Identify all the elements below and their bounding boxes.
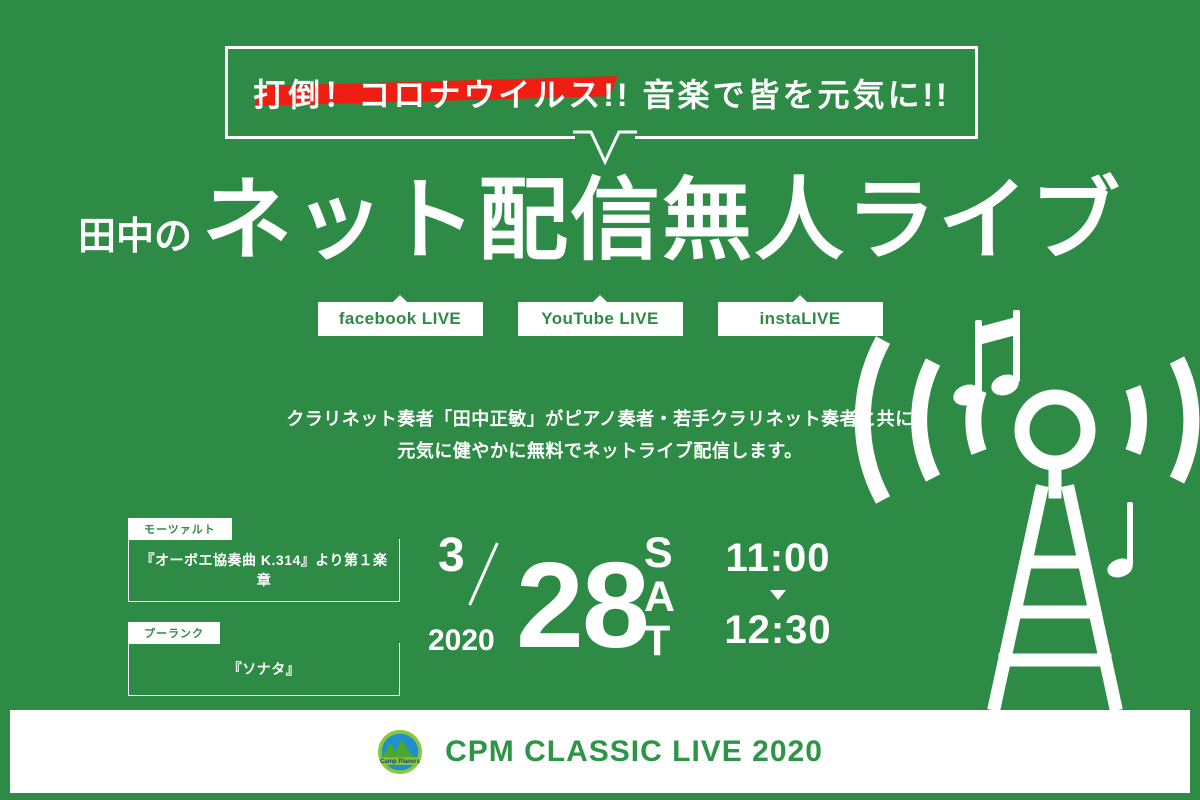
date-weekday-letter: S bbox=[644, 532, 675, 576]
logo-wordmark: Camp Planers bbox=[380, 759, 420, 765]
badge-facebook-live[interactable]: facebook LIVE bbox=[318, 302, 483, 336]
program-composer-tab: プーランク bbox=[128, 622, 220, 644]
tower-leg-left bbox=[995, 492, 1041, 704]
tower-leg-right bbox=[1069, 492, 1115, 704]
date-day: 28 bbox=[516, 544, 648, 666]
time-range-arrow-icon bbox=[770, 590, 786, 600]
program-item: モーツァルト 『オーボエ協奏曲 K.314』より第１楽章 bbox=[128, 518, 400, 602]
main-title-prefix: 田中の bbox=[78, 218, 192, 266]
music-note-quarter-icon bbox=[1105, 502, 1135, 581]
date-slash-icon bbox=[468, 542, 498, 605]
footer-bar: Camp Planers CPM CLASSIC LIVE 2020 bbox=[10, 710, 1190, 793]
program-list: モーツァルト 『オーボエ協奏曲 K.314』より第１楽章 プーランク 『ソナタ』 bbox=[128, 518, 400, 716]
poster-canvas: 打倒！コロナウイルス!! 音楽で皆を元気に!! 田中の ネット配信無人ライブ f… bbox=[0, 0, 1200, 800]
wave-right-outer bbox=[1177, 360, 1191, 480]
time-range: 11:00 12:30 bbox=[698, 538, 858, 650]
date-weekday-letter: A bbox=[644, 576, 675, 620]
date-weekday: S A T bbox=[644, 532, 675, 664]
wave-left-outer bbox=[863, 340, 883, 500]
date-weekday-letter: T bbox=[644, 620, 675, 664]
date-block: 3 2020 28 S A T 11:00 12:30 bbox=[428, 528, 858, 668]
program-piece: 『ソナタ』 bbox=[128, 643, 400, 696]
main-title: 田中の ネット配信無人ライブ bbox=[0, 176, 1200, 266]
start-time: 11:00 bbox=[698, 538, 858, 578]
camp-planers-logo-icon: Camp Planers bbox=[377, 729, 423, 775]
program-item: プーランク 『ソナタ』 bbox=[128, 622, 400, 696]
tower-antenna-dish bbox=[1022, 397, 1088, 463]
end-time: 12:30 bbox=[698, 610, 858, 650]
program-composer-tab: モーツァルト bbox=[128, 518, 232, 540]
footer-brand: CPM CLASSIC LIVE 2020 bbox=[445, 735, 823, 769]
headline-text: 打倒！コロナウイルス!! 音楽で皆を元気に!! bbox=[225, 46, 978, 139]
date-year: 2020 bbox=[428, 626, 495, 656]
broadcast-tower-icon bbox=[845, 300, 1200, 712]
wave-right-inner bbox=[1133, 388, 1139, 452]
wave-left-mid bbox=[919, 362, 933, 478]
program-piece: 『オーボエ協奏曲 K.314』より第１楽章 bbox=[128, 539, 400, 602]
main-title-main: ネット配信無人ライブ bbox=[192, 176, 1122, 266]
date-month: 3 bbox=[438, 532, 465, 580]
badge-youtube-live[interactable]: YouTube LIVE bbox=[518, 302, 683, 336]
